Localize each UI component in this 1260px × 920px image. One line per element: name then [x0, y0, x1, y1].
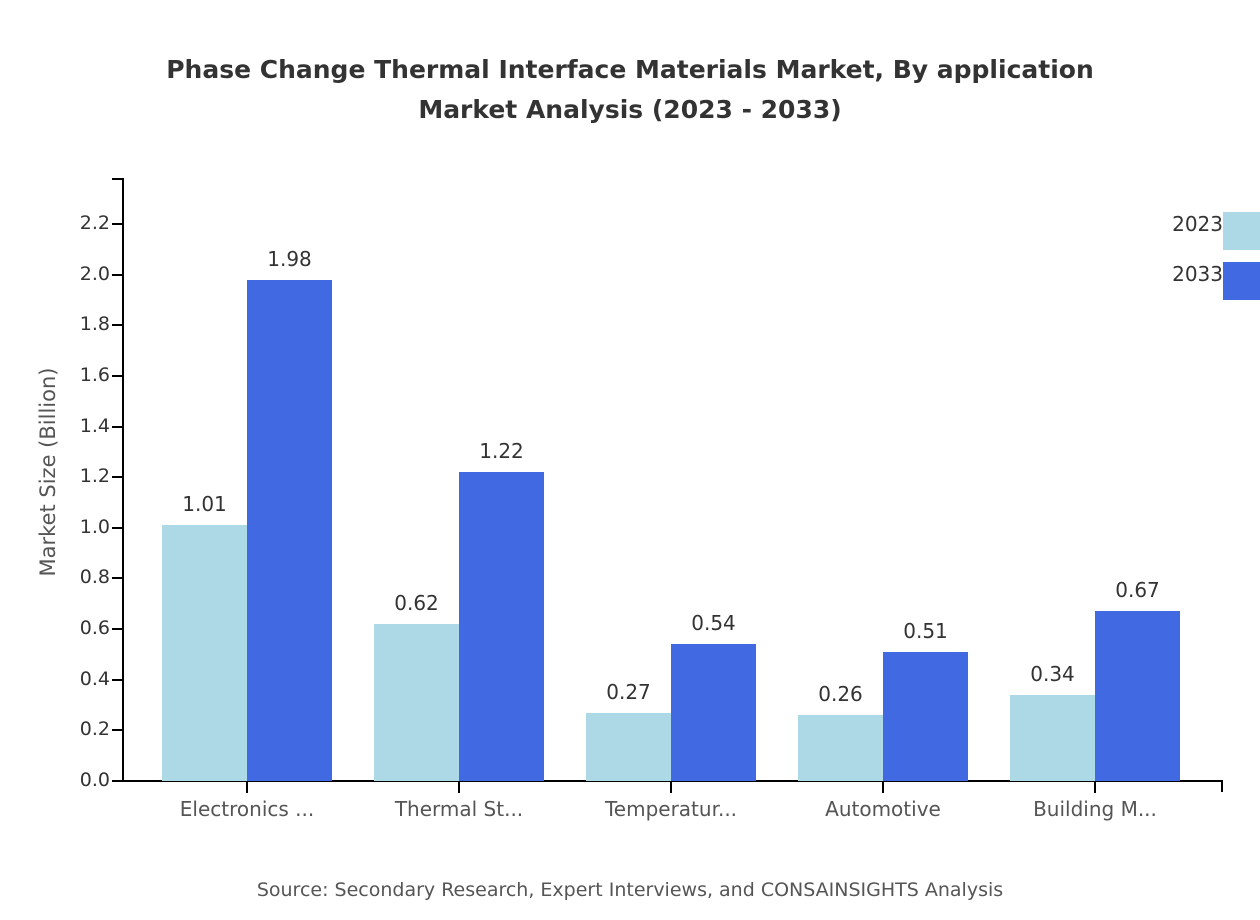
bar[interactable] — [459, 472, 544, 781]
bar-value-label: 0.51 — [863, 621, 988, 641]
chart-title-line-1: Phase Change Thermal Interface Materials… — [0, 50, 1260, 90]
y-axis-tick-label: 1.4 — [2, 417, 110, 436]
legend-item-label: 2023 — [1172, 214, 1223, 234]
y-axis-tick — [112, 324, 122, 326]
chart-title-line-2: Market Analysis (2023 - 2033) — [0, 90, 1260, 130]
y-axis-tick — [112, 780, 122, 782]
chart-legend[interactable]: 20232033 — [1100, 205, 1260, 315]
y-axis-tick-label: 0.4 — [2, 670, 110, 689]
chart-canvas: Phase Change Thermal Interface Materials… — [0, 0, 1260, 920]
source-note: Source: Secondary Research, Expert Inter… — [0, 878, 1260, 902]
legend-color-swatch — [1223, 262, 1260, 300]
legend-color-swatch — [1223, 212, 1260, 250]
bar[interactable] — [247, 280, 332, 781]
legend-item[interactable]: 2023 — [1100, 205, 1260, 249]
chart-title: Phase Change Thermal Interface Materials… — [0, 50, 1260, 130]
y-axis-top-cap — [112, 178, 124, 180]
bar-value-label: 0.67 — [1075, 580, 1200, 600]
bar-value-label: 1.22 — [439, 441, 564, 461]
y-axis-tick — [112, 375, 122, 377]
x-axis-tick — [458, 782, 460, 793]
y-axis-tick-label: 2.0 — [2, 265, 110, 284]
x-axis-tick — [670, 782, 672, 793]
y-axis-tick — [112, 476, 122, 478]
y-axis-tick-label: 1.6 — [2, 366, 110, 385]
bar[interactable] — [798, 715, 883, 781]
bar-value-label: 1.98 — [227, 249, 352, 269]
y-axis-tick-label: 0.0 — [2, 771, 110, 790]
bar[interactable] — [1095, 611, 1180, 781]
y-axis-tick-label: 1.0 — [2, 518, 110, 537]
x-axis-category-label: Building M... — [965, 795, 1225, 823]
y-axis-tick — [112, 729, 122, 731]
bar[interactable] — [883, 652, 968, 781]
bar[interactable] — [671, 644, 756, 781]
bar-value-label: 0.54 — [651, 613, 776, 633]
y-axis-tick-label: 0.6 — [2, 619, 110, 638]
legend-item[interactable]: 2033 — [1100, 255, 1260, 299]
y-axis-tick-label: 2.2 — [2, 214, 110, 233]
legend-item-label: 2033 — [1172, 264, 1223, 284]
y-axis-tick — [112, 223, 122, 225]
y-axis-tick — [112, 274, 122, 276]
y-axis-tick — [112, 527, 122, 529]
y-axis-tick — [112, 679, 122, 681]
y-axis-tick-label: 1.2 — [2, 467, 110, 486]
bar[interactable] — [586, 713, 671, 781]
y-axis-tick — [112, 577, 122, 579]
bar[interactable] — [1010, 695, 1095, 781]
y-axis-tick — [112, 628, 122, 630]
y-axis-tick-label: 0.8 — [2, 568, 110, 587]
y-axis-tick-label: 0.2 — [2, 720, 110, 739]
bar[interactable] — [374, 624, 459, 781]
y-axis-line — [122, 178, 124, 782]
bar[interactable] — [162, 525, 247, 781]
x-axis-tick — [882, 782, 884, 793]
y-axis-tick-labels: 0.00.20.40.60.81.01.21.41.61.82.02.2 — [0, 0, 110, 920]
x-axis-tick — [1094, 782, 1096, 793]
x-axis-right-cap — [1221, 780, 1223, 792]
y-axis-tick-label: 1.8 — [2, 315, 110, 334]
y-axis-tick — [112, 426, 122, 428]
x-axis-tick — [246, 782, 248, 793]
